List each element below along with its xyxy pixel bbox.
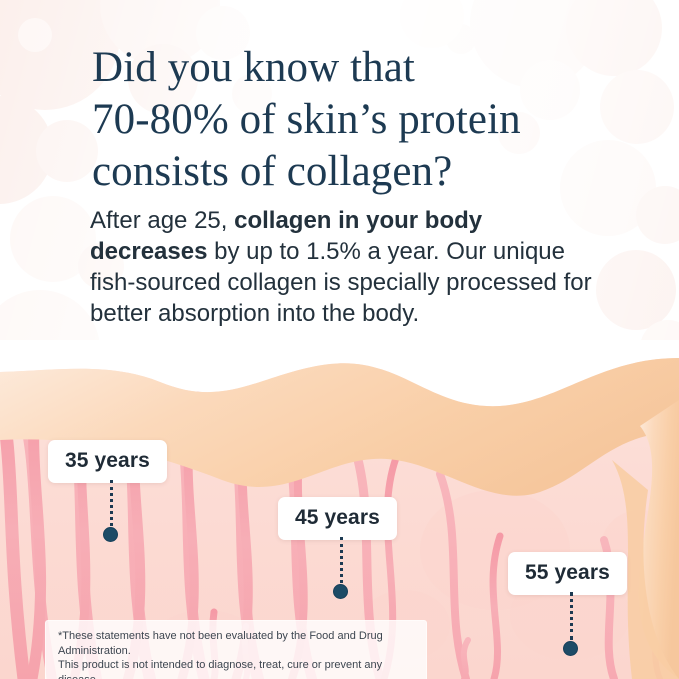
anchor-dot: [103, 527, 118, 542]
age-label-chip[interactable]: 35 years: [48, 440, 167, 483]
age-label-chip[interactable]: 55 years: [508, 552, 627, 595]
disclaimer-text: *These statements have not been evaluate…: [45, 620, 427, 679]
leader-line: [340, 537, 343, 583]
anchor-dot: [563, 641, 578, 656]
infographic-canvas: Did you know that 70-80% of skin’s prote…: [0, 0, 679, 679]
body-paragraph: After age 25, collagen in your body decr…: [90, 205, 602, 329]
anchor-dot: [333, 584, 348, 599]
body-segment-1: After age 25,: [90, 207, 234, 234]
age-label-chip[interactable]: 45 years: [278, 497, 397, 540]
leader-line: [110, 480, 113, 526]
leader-line: [570, 592, 573, 640]
page-title: Did you know that 70-80% of skin’s prote…: [92, 42, 632, 198]
